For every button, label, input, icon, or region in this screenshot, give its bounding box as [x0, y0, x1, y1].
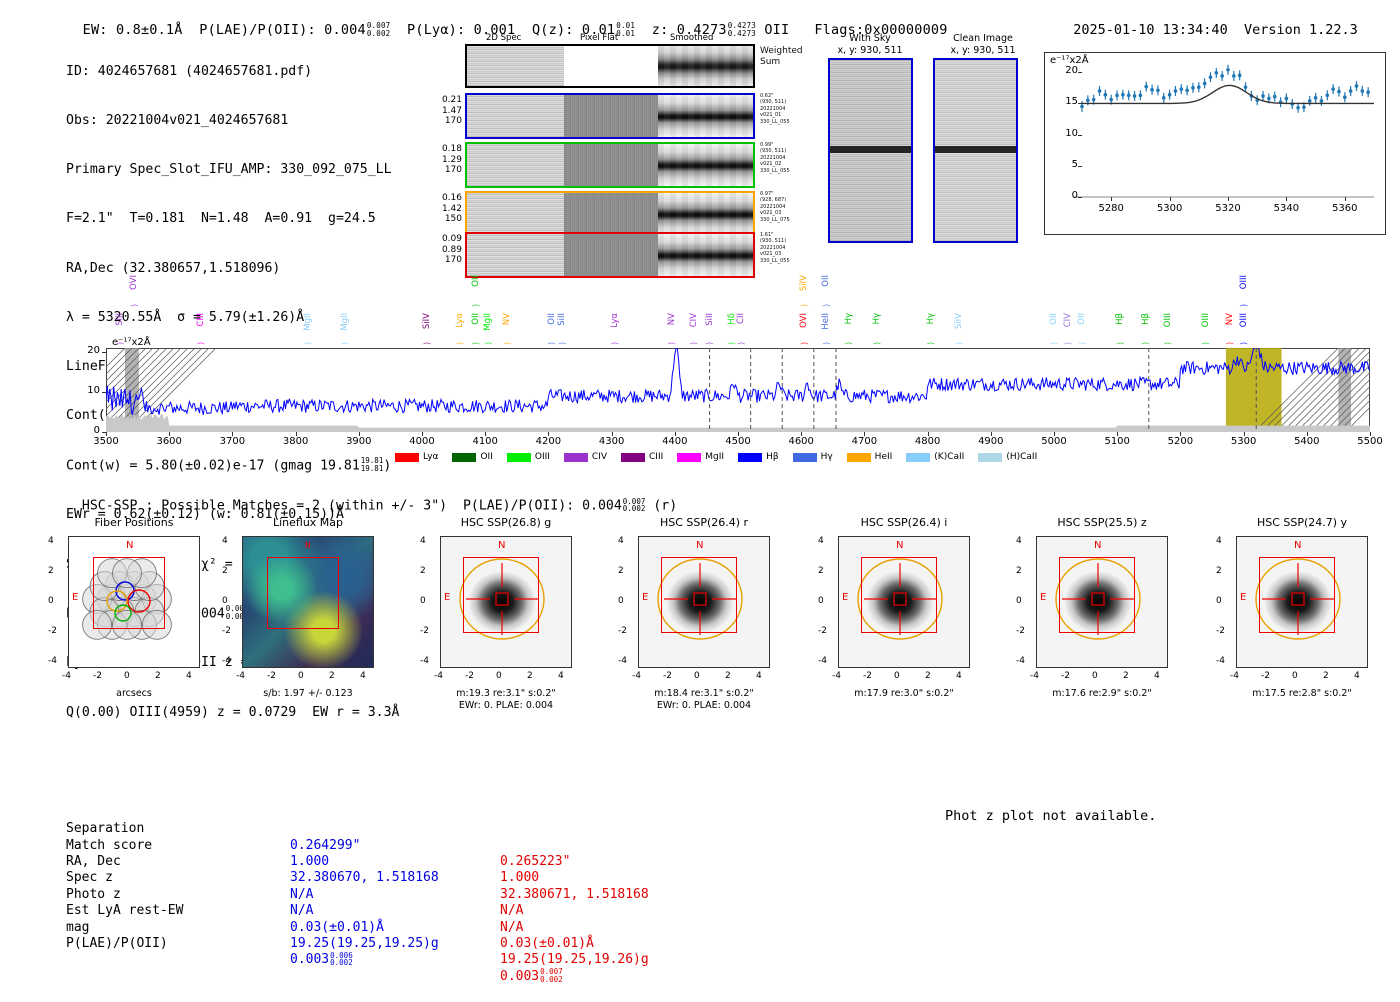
- cutout-ytick-2-1: 2: [420, 566, 426, 576]
- cutout-caption-6: m:17.5 re:2.8" s:0.2": [1212, 688, 1392, 700]
- compass-e-0: E: [72, 592, 78, 603]
- match-table-row: Est LyA rest-EW 0.03(±0.01)Å 0.03(±0.01)…: [66, 887, 144, 903]
- match-table-row: Match score 1.000 1.000: [66, 821, 144, 837]
- cutout-panel-6[interactable]: [1236, 536, 1368, 668]
- compass-n-6: N: [1294, 540, 1301, 551]
- fiber1-left-labels: 0.211.47170: [420, 95, 462, 127]
- cutout-caption-1: s/b: 1.97 +/- 0.123: [218, 688, 398, 700]
- weighted-sum-label: WeightedSum: [760, 46, 820, 68]
- cutout-xtick-5-1: -2: [1061, 671, 1070, 681]
- match-row-c2-3: N/A: [500, 903, 523, 919]
- cutout-xtick-1-1: -2: [267, 671, 276, 681]
- line-brace-1: ⏜: [130, 305, 138, 315]
- cutout-ytick-0-2: 0: [48, 596, 54, 606]
- with-sky-image: [828, 58, 913, 243]
- cutout-caption2-3: EWr: 0. PLAE: 0.004: [614, 700, 794, 712]
- spec2d-block: 2D Spec Pixel Flat Smoothed WeightedSum …: [420, 33, 820, 263]
- cutout-ytick-1-1: 2: [222, 566, 228, 576]
- hsc-summary-errors: 0.0070.002: [623, 498, 646, 513]
- match-table: Separation 0.264299" 0.265223" Match sco…: [66, 772, 144, 952]
- compass-n-2: N: [498, 540, 505, 551]
- cutout-xtick-1-2: 0: [298, 671, 304, 681]
- compass-e-2: E: [444, 592, 450, 603]
- cutout-ytick-4-3: -2: [818, 626, 827, 636]
- cutout-ytick-1-4: -4: [222, 656, 231, 666]
- fiber3-pixelflat-image: [564, 193, 659, 235]
- fiber2-2dspec-image: [467, 144, 564, 186]
- cutout-xtick-5-3: 2: [1123, 671, 1129, 681]
- fiber-row-2: [465, 142, 755, 188]
- hsc-summary-line: HSC-SSP : Possible Matches = 2 (within +…: [66, 483, 677, 514]
- line-label-ciii-2: CIII: [196, 313, 206, 326]
- cutout-ytick-6-2: 0: [1216, 596, 1222, 606]
- cutout-ytick-4-1: 2: [818, 566, 824, 576]
- cutout-ytick-0-1: 2: [48, 566, 54, 576]
- cutout-ytick-5-3: -2: [1016, 626, 1025, 636]
- match-row-c1-0: 0.264299": [290, 838, 360, 854]
- fiber3-2dspec-image: [467, 193, 564, 235]
- cutout-xtick-5-2: 0: [1092, 671, 1098, 681]
- cutout-redbox-3: [661, 557, 737, 633]
- match-table-row: mag 19.25(19.25,19.25)g 19.25(19.25,19.2…: [66, 903, 144, 919]
- fiber1-smoothed-image: [658, 95, 753, 137]
- fiber3-smoothed-image: [658, 193, 753, 235]
- legend-label-0: Lyα: [423, 452, 438, 462]
- fiber3-meta-labels: 0.97"(928, 687)20221004v021_03330_LL_075: [760, 191, 820, 223]
- match-row-c2-4: N/A: [500, 920, 523, 936]
- line-label-lyα-13: Lyα: [610, 313, 620, 328]
- cutout-xtick-4-3: 2: [925, 671, 931, 681]
- cutout-redbox-4: [861, 557, 937, 633]
- match-row-c1-3: N/A: [290, 887, 313, 903]
- cutout-ytick-0-4: -4: [48, 656, 57, 666]
- line-brace-36: ⏜: [1240, 305, 1248, 315]
- legend-item-(H)CaII: (H)CaII: [978, 452, 1037, 462]
- line-label-heii-21: HeII: [821, 313, 831, 330]
- match-row-c2-1: 1.000: [500, 870, 539, 886]
- cutout-title-3: HSC SSP(26.4) r: [619, 516, 789, 529]
- legend-item-(K)CaII: (K)CaII: [906, 452, 964, 462]
- line-label-oiii-36: OIII: [1239, 275, 1249, 289]
- cutout-xlabel-0: arcsecs: [44, 688, 224, 700]
- cutout-panel-0[interactable]: [68, 536, 200, 668]
- cutout-xtick-3-2: 0: [694, 671, 700, 681]
- fiber3-left-labels: 0.161.42150: [420, 193, 462, 225]
- line-label-oiii-32: OIII: [1163, 313, 1173, 327]
- col-header-2dspec: 2D Spec: [486, 33, 521, 43]
- compass-e-3: E: [642, 592, 648, 603]
- cutout-ytick-3-0: 4: [618, 536, 624, 546]
- line-brace-20: ⏜: [800, 305, 808, 315]
- cutout-redbox-1: [267, 557, 339, 629]
- fiber2-left-labels: 0.181.29170: [420, 144, 462, 176]
- cutout-ytick-6-3: -2: [1216, 626, 1225, 636]
- info-fwhm-throughput: F=2.1" T=0.181 N=1.48 A=0.91 g=24.5: [66, 211, 399, 227]
- fiber2-meta-labels: 0.99"(930, 511)20221004v021_02330_LL_055: [760, 142, 820, 174]
- cutout-panel-1[interactable]: N: [242, 536, 374, 668]
- cutout-title-0: Fiber Positions: [49, 516, 219, 529]
- cutout-panel-2[interactable]: [440, 536, 572, 668]
- cutout-xtick-3-0: -4: [632, 671, 641, 681]
- legend-swatch-2: [507, 453, 531, 462]
- cutout-caption-5: m:17.6 re:2.9" s:0.2": [1012, 688, 1192, 700]
- fiber4-2dspec-image: [467, 234, 564, 276]
- header-timestamp-version: 2025-01-10 13:34:40 Version 1.22.3: [1057, 6, 1358, 38]
- col-header-smoothed: Smoothed: [670, 33, 713, 43]
- fiber1-pixelflat-image: [564, 95, 659, 137]
- cutout-ytick-6-1: 2: [1216, 566, 1222, 576]
- line-brace-22: ⏜: [822, 305, 830, 315]
- legend-label-4: CIII: [649, 452, 663, 462]
- compass-n-5: N: [1094, 540, 1101, 551]
- cutout-xtick-3-3: 2: [725, 671, 731, 681]
- cutout-xtick-1-3: 2: [329, 671, 335, 681]
- info-id: ID: 4024657681 (4024657681.pdf): [66, 64, 399, 80]
- match-table-row: Spec z N/A N/A: [66, 854, 144, 870]
- line-label-siiv-26: SiIV: [954, 313, 964, 329]
- match-row-label-plae: P(LAE)/P(OII): [66, 936, 168, 952]
- line-brace-8: ⏜: [472, 305, 480, 315]
- compass-n-0: N: [126, 540, 133, 551]
- line-label-nv-14: NV: [667, 313, 677, 325]
- line-label-siii-0: SiII: [115, 313, 125, 326]
- legend-item-Lyα: Lyα: [395, 452, 438, 462]
- legend-swatch-3: [564, 453, 588, 462]
- cutout-ytick-3-1: 2: [618, 566, 624, 576]
- cutout-ytick-2-2: 0: [420, 596, 426, 606]
- line-label-hγ-24: Hγ: [872, 313, 882, 324]
- cutout-ytick-5-0: 4: [1016, 536, 1022, 546]
- weighted-smoothed-image: [658, 46, 753, 86]
- legend-item-Hβ: Hβ: [738, 452, 779, 462]
- cutout-xtick-2-2: 0: [496, 671, 502, 681]
- cutout-caption-4: m:17.9 re:3.0" s:0.2": [814, 688, 994, 700]
- cutout-ytick-0-3: -2: [48, 626, 57, 636]
- cutout-xtick-4-2: 0: [894, 671, 900, 681]
- cutout-xtick-1-0: -4: [236, 671, 245, 681]
- compass-n-3: N: [696, 540, 703, 551]
- cutout-ytick-4-2: 0: [818, 596, 824, 606]
- cutout-title-2: HSC SSP(26.8) g: [421, 516, 591, 529]
- cutout-ytick-2-4: -4: [420, 656, 429, 666]
- line-label-siiv-20: SiIV: [799, 275, 809, 291]
- legend-item-HeII: HeII: [847, 452, 893, 462]
- legend-label-2: OIII: [535, 452, 550, 462]
- cutout-ytick-1-0: 4: [222, 536, 228, 546]
- legend-item-Hγ: Hγ: [793, 452, 833, 462]
- compass-n-4: N: [896, 540, 903, 551]
- legend-swatch-1: [452, 453, 476, 462]
- match-table-row: Photo z N/A N/A: [66, 870, 144, 886]
- match-table-row: Separation 0.264299" 0.265223": [66, 805, 144, 821]
- legend-label-6: Hβ: [766, 452, 779, 462]
- legend-item-CIII: CIII: [621, 452, 663, 462]
- cutout-xtick-5-4: 4: [1154, 671, 1160, 681]
- legend-label-10: (H)CaII: [1006, 452, 1037, 462]
- info-q-oiii: Q(0.00) OIII(4959) z = 0.0729 EW r = 3.3…: [66, 705, 399, 721]
- cutout-xtick-6-3: 2: [1323, 671, 1329, 681]
- compass-e-5: E: [1040, 592, 1046, 603]
- info-primary-slot: Primary Spec_Slot_IFU_AMP: 330_092_075_L…: [66, 162, 399, 178]
- legend-swatch-8: [847, 453, 871, 462]
- cutout-ytick-5-4: -4: [1016, 656, 1025, 666]
- fiber-row-4: [465, 232, 755, 278]
- cutout-ytick-6-0: 4: [1216, 536, 1222, 546]
- compass-e-6: E: [1240, 592, 1246, 603]
- legend-item-OII: OII: [452, 452, 492, 462]
- match-row-c1-4: N/A: [290, 903, 313, 919]
- cutout-redbox-6: [1259, 557, 1335, 633]
- info-obs: Obs: 20221004v021_4024657681: [66, 113, 399, 129]
- header-version: Version 1.22.3: [1244, 22, 1358, 38]
- line-label-cii-18: CII: [736, 313, 746, 324]
- cutout-ytick-5-1: 2: [1016, 566, 1022, 576]
- cutout-xtick-0-4: 4: [186, 671, 192, 681]
- fiber4-left-labels: 0.090.89170: [420, 234, 462, 266]
- cutout-xtick-1-4: 4: [360, 671, 366, 681]
- line-label-siii-16: SiII: [705, 313, 715, 326]
- fiber2-pixelflat-image: [564, 144, 659, 186]
- line-label-nv-34: NV: [1225, 313, 1235, 325]
- cutout-ytick-3-3: -2: [618, 626, 627, 636]
- fiber1-meta-labels: 0.62"(930, 511)20221004v021_01330_LL_055: [760, 93, 820, 125]
- cutout-xtick-4-0: -4: [832, 671, 841, 681]
- line-label-oii-29: OII: [1077, 313, 1087, 325]
- compass-e-4: E: [842, 592, 848, 603]
- cutout-panel-3[interactable]: [638, 536, 770, 668]
- fiber1-2dspec-image: [467, 95, 564, 137]
- legend-item-CIV: CIV: [564, 452, 607, 462]
- cutout-caption-3: m:18.4 re:3.1" s:0.2": [614, 688, 794, 700]
- line-label-civ-15: CIV: [689, 313, 699, 327]
- cutout-xtick-4-4: 4: [956, 671, 962, 681]
- legend-label-9: (K)CaII: [934, 452, 964, 462]
- line-label-oii-11: OII: [547, 313, 557, 325]
- cutout-xtick-6-1: -2: [1261, 671, 1270, 681]
- fiber4-pixelflat-image: [564, 234, 659, 276]
- cutout-ytick-1-2: 0: [222, 596, 228, 606]
- line-label-hγ-25: Hγ: [926, 313, 936, 324]
- cutout-xtick-3-4: 4: [756, 671, 762, 681]
- full-spectrum-units: e⁻¹⁷x2Å: [112, 337, 151, 348]
- cutout-xtick-6-2: 0: [1292, 671, 1298, 681]
- cutout-redbox-2: [463, 557, 539, 633]
- cutout-xtick-6-0: -4: [1230, 671, 1239, 681]
- line-label-nv-10: NV: [502, 313, 512, 325]
- weighted-sum-row: [465, 44, 755, 88]
- cutout-ytick-2-0: 4: [420, 536, 426, 546]
- match-row-c1-1: 1.000: [290, 854, 329, 870]
- cutout-xtick-2-0: -4: [434, 671, 443, 681]
- legend-label-7: Hγ: [821, 452, 833, 462]
- match-row-c1-5: 0.03(±0.01)Å: [290, 920, 384, 936]
- fiber4-smoothed-image: [658, 234, 753, 276]
- cutout-xtick-0-2: 0: [124, 671, 130, 681]
- cutout-redbox-0: [93, 557, 165, 629]
- line-label-civ-28: CIV: [1063, 313, 1073, 327]
- cutout-redbox-5: [1059, 557, 1135, 633]
- header-datetime: 2025-01-10 13:34:40: [1073, 22, 1227, 38]
- cutout-xtick-0-3: 2: [155, 671, 161, 681]
- cutout-ytick-3-2: 0: [618, 596, 624, 606]
- cutout-caption-2: m:19.3 re:3.1" s:0.2": [416, 688, 596, 700]
- legend-item-OIII: OIII: [507, 452, 550, 462]
- line-label-oii-22: OII: [821, 275, 831, 287]
- cutout-title-4: HSC SSP(26.4) i: [819, 516, 989, 529]
- legend-label-8: HeII: [875, 452, 893, 462]
- cutout-xtick-5-0: -4: [1030, 671, 1039, 681]
- fiber2-smoothed-image: [658, 144, 753, 186]
- cutout-xtick-0-0: -4: [62, 671, 71, 681]
- match-row-c2-5: 0.03(±0.01)Å: [500, 936, 594, 952]
- cutout-xtick-2-4: 4: [558, 671, 564, 681]
- legend-swatch-9: [906, 453, 930, 462]
- photoz-note: Phot z plot not available.: [945, 808, 1156, 824]
- legend-swatch-0: [395, 453, 419, 462]
- cutout-title-5: HSC SSP(25.5) z: [1017, 516, 1187, 529]
- line-label-mgii-3: MgII: [303, 313, 313, 331]
- match-row-c1-2: 32.380670, 1.518168: [290, 870, 439, 886]
- cutout-panel-4[interactable]: [838, 536, 970, 668]
- clean-image-image: [933, 58, 1018, 243]
- match-row-c2-2: 32.380671, 1.518168: [500, 887, 649, 903]
- lineflux-n-marker: N: [305, 541, 310, 551]
- line-label-oii-8: OII: [471, 275, 481, 287]
- line-label-mgii-9: MgII: [483, 313, 493, 331]
- cutout-panel-5[interactable]: [1036, 536, 1168, 668]
- match-row-c2-0: 0.265223": [500, 854, 570, 870]
- legend-label-1: OII: [480, 452, 492, 462]
- cutout-ytick-3-4: -4: [618, 656, 627, 666]
- legend-label-3: CIV: [592, 452, 607, 462]
- match-row-c1-6: 19.25(19.25,19.25)g: [290, 936, 439, 952]
- match-table-row: P(LAE)/P(OII) 0.0030.0060.002 0.0030.007…: [66, 920, 144, 936]
- match-row-c2-6: 19.25(19.25,19.26)g: [500, 952, 649, 968]
- legend-swatch-10: [978, 453, 1002, 462]
- cutout-ytick-4-4: -4: [818, 656, 827, 666]
- line-label-siii-12: SiII: [557, 313, 567, 326]
- fiber4-meta-labels: 1.61"(930, 511)20221004v021_03330_LL_055: [760, 232, 820, 264]
- cutout-xtick-4-1: -2: [863, 671, 872, 681]
- match-table-row: RA, Dec 32.380670, 1.518168 32.380671, 1…: [66, 838, 144, 854]
- zoom-spectrum-plot: e⁻¹⁷x2Å 05101520 52805300532053405360: [1044, 52, 1386, 235]
- line-label-ovi-19: OVI: [799, 313, 809, 328]
- line-label-hβ-31: Hβ: [1141, 313, 1151, 325]
- cutout-xtick-3-1: -2: [663, 671, 672, 681]
- full-spectrum-canvas: [106, 348, 1370, 432]
- legend-label-5: MgII: [705, 452, 724, 462]
- line-label-hγ-23: Hγ: [844, 313, 854, 324]
- cutout-ytick-5-2: 0: [1016, 596, 1022, 606]
- legend-swatch-4: [621, 453, 645, 462]
- match-row-c2-plae: 0.0030.0070.002: [500, 969, 563, 985]
- cutout-xtick-0-1: -2: [93, 671, 102, 681]
- line-label-oiii-33: OIII: [1201, 313, 1211, 327]
- cutout-ytick-6-4: -4: [1216, 656, 1225, 666]
- legend-swatch-6: [738, 453, 762, 462]
- cutout-title-1: Lineflux Map: [223, 516, 393, 529]
- line-label-siiv-5: SiIV: [422, 313, 432, 329]
- fiber-row-3: [465, 191, 755, 237]
- line-label-ovi-1: OVI: [129, 275, 139, 290]
- line-label-oiii-35: OIII: [1239, 313, 1249, 327]
- legend-swatch-5: [677, 453, 701, 462]
- cutout-title-6: HSC SSP(24.7) y: [1217, 516, 1387, 529]
- cutout-ytick-2-3: -2: [420, 626, 429, 636]
- col-header-pixelflat: Pixel Flat: [580, 33, 618, 43]
- cutout-xtick-2-1: -2: [465, 671, 474, 681]
- line-label-oii-27: OII: [1049, 313, 1059, 325]
- legend-item-MgII: MgII: [677, 452, 724, 462]
- full-spectrum-block: SiII⏜OVI⏜CIII⏜MgII⏜MgII⏜SiIV⏜Lyα⏜OII⏜OII…: [0, 275, 1400, 475]
- cutout-caption2-2: EWr: 0. PLAE: 0.004: [416, 700, 596, 712]
- line-label-lyα-6: Lyα: [455, 313, 465, 328]
- line-label-mgii-4: MgII: [340, 313, 350, 331]
- cutout-xtick-6-4: 4: [1354, 671, 1360, 681]
- match-row-c1-plae: 0.0030.0060.002: [290, 952, 353, 968]
- legend-swatch-7: [793, 453, 817, 462]
- cutout-ytick-4-0: 4: [818, 536, 824, 546]
- cutout-xtick-2-3: 2: [527, 671, 533, 681]
- weighted-pixelflat-image: [564, 46, 659, 86]
- weighted-2dspec-image: [467, 46, 564, 86]
- clean-image-header: Clean Imagex, y: 930, 511: [928, 33, 1038, 56]
- cutout-ytick-0-0: 4: [48, 536, 54, 546]
- cutout-ytick-1-3: -2: [222, 626, 231, 636]
- line-label-hβ-30: Hβ: [1115, 313, 1125, 325]
- fiber-row-1: [465, 93, 755, 139]
- spectrum-legend: Lyα OII OIII CIV CIII MgII Hβ Hγ: [395, 452, 1051, 462]
- with-sky-header: With Skyx, y: 930, 511: [820, 33, 920, 56]
